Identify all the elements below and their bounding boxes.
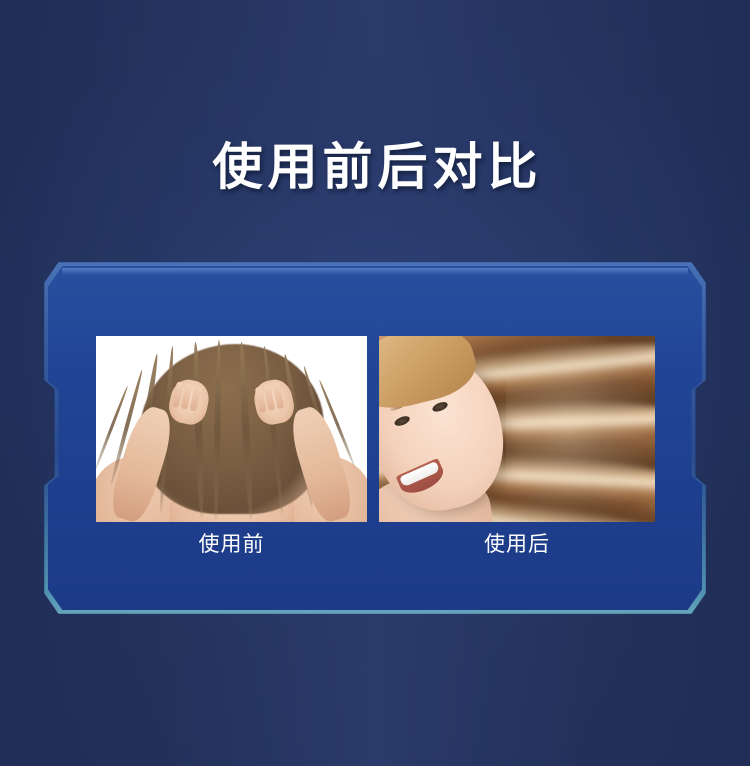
- panel-captions: 使用前 使用后: [96, 530, 655, 564]
- teeth: [399, 461, 440, 487]
- after-caption: 使用后: [379, 530, 655, 564]
- comparison-panels: [96, 336, 655, 522]
- before-photo: [96, 336, 367, 522]
- comparison-card: 使用前 使用后: [44, 262, 706, 614]
- before-caption: 使用前: [96, 530, 367, 564]
- after-photo: [379, 336, 655, 522]
- promo-banner: 使用前后对比: [0, 0, 750, 766]
- eye-right: [431, 400, 449, 413]
- page-title: 使用前后对比: [0, 138, 750, 196]
- smiling-mouth: [396, 458, 448, 499]
- before-image-panel[interactable]: [96, 336, 367, 522]
- after-image-panel[interactable]: [379, 336, 655, 522]
- eye-left: [393, 414, 411, 427]
